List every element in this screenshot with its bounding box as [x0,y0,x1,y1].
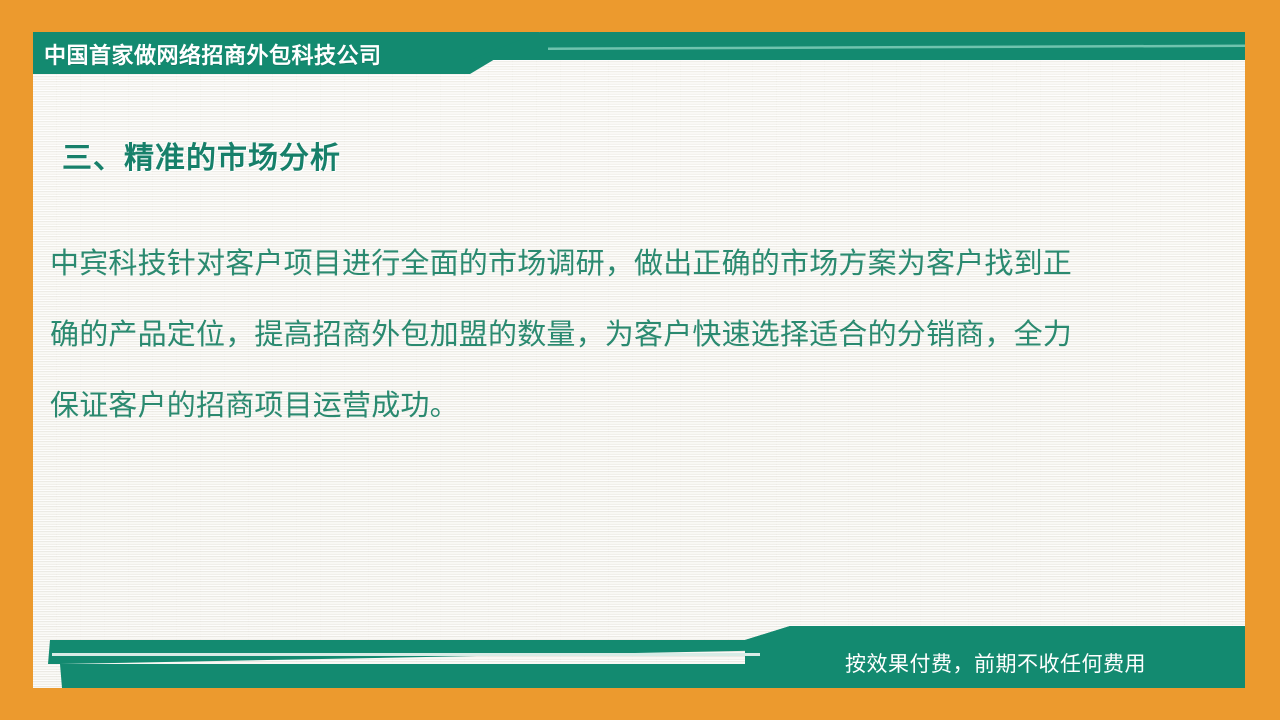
footer-slogan: 按效果付费，前期不收任何费用 [845,645,1225,681]
body-line-1: 中宾科技针对客户项目进行全面的市场调研，做出正确的市场方案为客户找到正 [50,228,1185,299]
body-line-2: 确的产品定位，提高招商外包加盟的数量，为客户快速选择适合的分销商，全力 [50,299,1185,370]
orange-frame-bottom [0,688,1280,720]
header-company-tagline: 中国首家做网络招商外包科技公司 [44,34,484,74]
orange-frame-top [0,0,1280,32]
orange-frame-right [1245,0,1280,720]
body-line-3: 保证客户的招商项目运营成功。 [50,370,1185,441]
presentation-slide: 中国首家做网络招商外包科技公司 三、精准的市场分析 中宾科技针对客户项目进行全面… [0,0,1280,720]
body-paragraph: 中宾科技针对客户项目进行全面的市场调研，做出正确的市场方案为客户找到正 确的产品… [50,228,1185,441]
orange-frame-left [0,0,33,720]
section-heading: 三、精准的市场分析 [62,133,341,177]
